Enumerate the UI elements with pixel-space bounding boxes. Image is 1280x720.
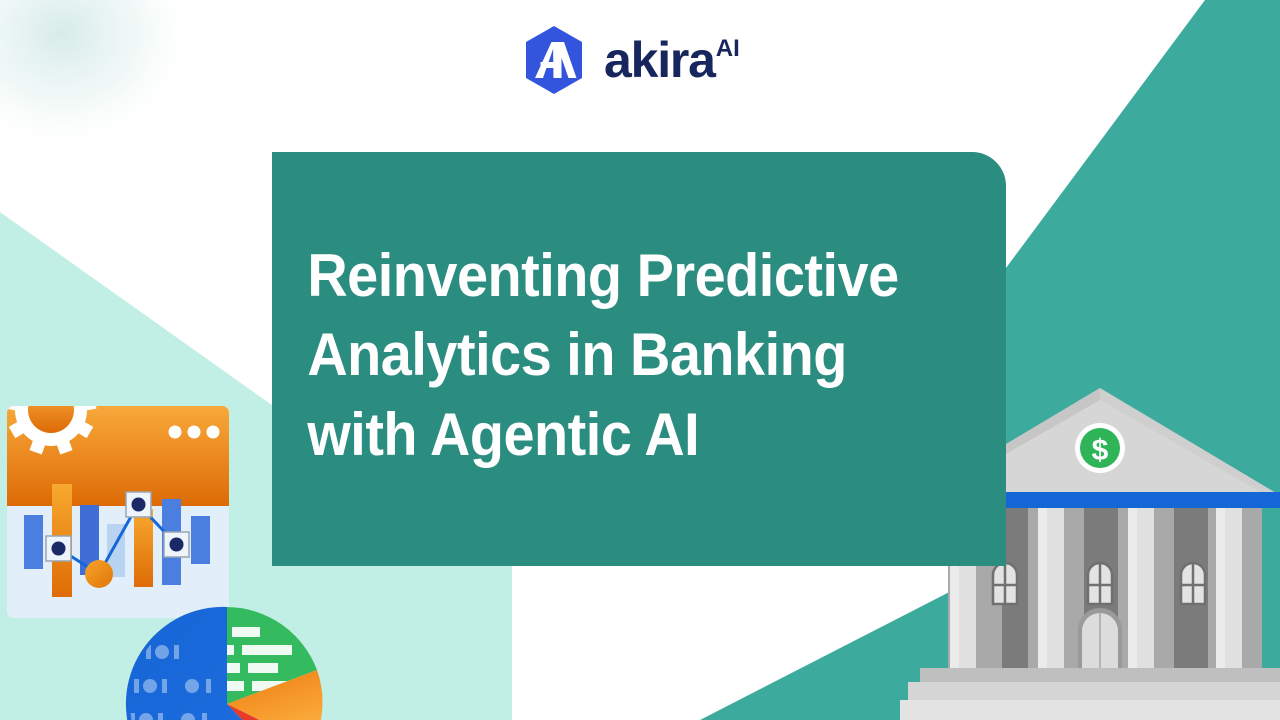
pie-chart-illustration [120,597,334,720]
akira-hexagon-logo-icon [520,24,588,96]
window-dots [169,426,220,439]
bank-window [993,563,1017,604]
bar [134,509,153,587]
bar [24,515,43,569]
bank-dollar-symbol: $ [1092,434,1109,467]
bank-window [1181,563,1205,604]
window-dot [207,426,220,439]
window-dot [169,426,182,439]
bank-step [908,682,1280,700]
window-dot [188,426,201,439]
bank-step [920,668,1280,682]
bank-step [900,700,1280,720]
highlight-node [85,560,113,588]
brand-wordmark: akira AI [604,35,740,85]
brand-superscript-text: AI [716,37,740,61]
bar [191,516,210,564]
bank-dollar-badge: $ [1075,423,1125,473]
brand-name-text: akira [604,35,715,85]
analytics-dashboard-illustration [4,396,236,628]
bank-window [1088,563,1112,604]
hero-title-card: Reinventing Predictive Analytics in Bank… [272,152,1006,566]
page-title: Reinventing Predictive Analytics in Bank… [272,236,955,474]
bank-door [1078,608,1122,668]
brand-logo[interactable]: akira AI [520,24,740,96]
slide-canvas: akira AI Reinventing Predictive Analytic… [0,0,1280,720]
